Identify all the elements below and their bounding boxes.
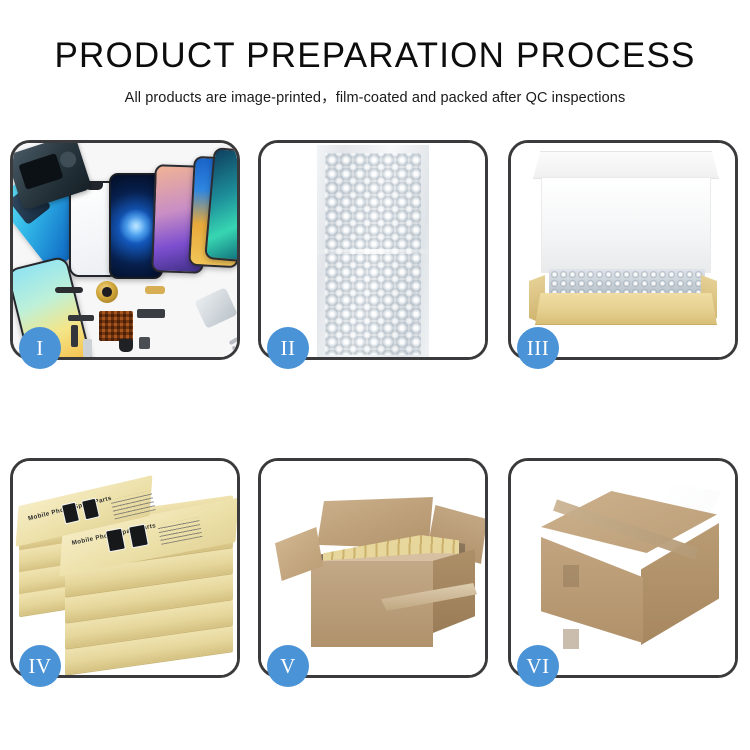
step-6-image <box>511 461 735 675</box>
repair-tool <box>194 287 237 329</box>
bubble-texture-secondary <box>325 153 421 355</box>
gold-connector-part <box>145 286 165 294</box>
box-front-panel <box>535 293 717 325</box>
wrap-seam <box>317 249 429 254</box>
screw-part-1 <box>229 337 237 345</box>
box-stack: Mobile Phone Spare Parts Mobile Phone Sp… <box>17 479 237 671</box>
step-badge-3: III <box>517 327 559 369</box>
step-panel-6: VI <box>508 458 738 678</box>
carton-handle-tab-top <box>563 565 579 587</box>
step-3-image <box>511 143 735 357</box>
antenna-strip-part <box>55 287 83 293</box>
copper-contact-grid-part <box>99 311 133 341</box>
bubble-wrapped-contents <box>549 269 705 295</box>
page-subtitle: All products are image-printed，film-coat… <box>0 86 750 107</box>
step-4-image: Mobile Phone Spare Parts Mobile Phone Sp… <box>13 461 237 675</box>
carton-filling-scene <box>261 461 485 675</box>
box-lid-flap <box>533 151 719 179</box>
step-1-image <box>13 143 237 357</box>
camera-module-part <box>139 337 150 349</box>
flex-cable-part-3 <box>137 309 165 318</box>
step-badge-6: VI <box>517 645 559 687</box>
speaker-coil-part <box>96 281 118 303</box>
product-preparation-infographic: PRODUCT PREPARATION PROCESS All products… <box>0 0 750 750</box>
sim-tray-part <box>83 339 92 357</box>
speaker-module-part <box>119 339 133 352</box>
bubble-wrap-scene <box>261 143 485 357</box>
flex-cable-part-2 <box>71 325 78 347</box>
step-badge-5: V <box>267 645 309 687</box>
step-5-image <box>261 461 485 675</box>
step-badge-1: I <box>19 327 61 369</box>
header: PRODUCT PREPARATION PROCESS All products… <box>0 0 750 130</box>
sealed-carton-front <box>541 537 643 643</box>
step-panel-2: II <box>258 140 488 360</box>
page-title: PRODUCT PREPARATION PROCESS <box>0 36 750 76</box>
process-steps-grid: I II <box>10 140 740 680</box>
box-inner-wall <box>541 177 711 273</box>
step-2-image <box>261 143 485 357</box>
step-panel-5: V <box>258 458 488 678</box>
flex-cable-part-1 <box>68 315 94 321</box>
inner-box-scene <box>511 143 735 357</box>
step-badge-4: IV <box>19 645 61 687</box>
products-scene <box>13 143 237 357</box>
sealed-carton-scene <box>511 461 735 675</box>
step-panel-3: III <box>508 140 738 360</box>
bubble-wrap-sheet <box>317 145 429 357</box>
step-panel-4: Mobile Phone Spare Parts Mobile Phone Sp… <box>10 458 240 678</box>
stacked-boxes-scene: Mobile Phone Spare Parts Mobile Phone Sp… <box>13 461 237 675</box>
carton-handle-tab-bottom <box>563 629 579 649</box>
screw-part-2 <box>232 345 237 352</box>
step-badge-2: II <box>267 327 309 369</box>
step-panel-1: I <box>10 140 240 360</box>
